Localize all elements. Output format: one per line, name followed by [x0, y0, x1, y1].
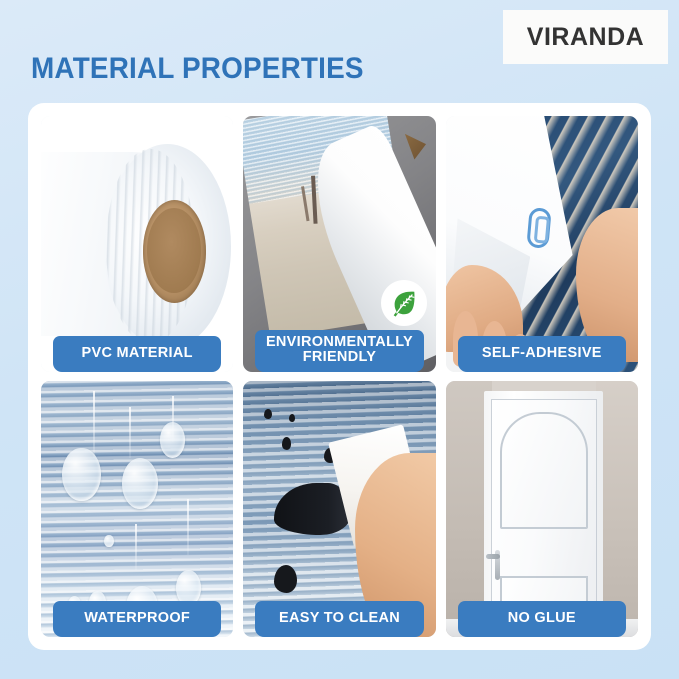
- product-infographic: VIRANDA MATERIAL PROPERTIES PVC MATERIAL: [0, 0, 679, 679]
- brand-logo-text: VIRANDA: [527, 23, 644, 52]
- feature-tile-self-adhesive[interactable]: SELF-ADHESIVE: [446, 116, 638, 372]
- feature-label-no-glue: NO GLUE: [458, 601, 626, 637]
- door-handle-icon: [495, 550, 500, 580]
- waterproof-image: [41, 381, 233, 637]
- feature-grid: PVC MATERIAL: [41, 116, 638, 637]
- feature-label-text: PVC MATERIAL: [57, 346, 217, 362]
- self-adhesive-image: [446, 116, 638, 372]
- page-title: MATERIAL PROPERTIES: [31, 52, 364, 86]
- no-glue-door-image: [446, 381, 638, 637]
- feature-tile-no-glue[interactable]: NO GLUE: [446, 381, 638, 637]
- feature-tile-easy-to-clean[interactable]: EASY TO CLEAN: [243, 381, 435, 637]
- pvc-roll-image: [41, 116, 233, 372]
- feature-label-self-adhesive: SELF-ADHESIVE: [458, 336, 626, 372]
- eco-badge: [381, 280, 427, 326]
- feature-label-environmentally-friendly: ENVIRONMENTALLY FRIENDLY: [255, 330, 423, 372]
- feature-label-text: SELF-ADHESIVE: [462, 346, 622, 362]
- feature-tile-environmentally-friendly[interactable]: ENVIRONMENTALLY FRIENDLY: [243, 116, 435, 372]
- feature-card: PVC MATERIAL: [28, 103, 651, 650]
- feature-tile-waterproof[interactable]: WATERPROOF: [41, 381, 233, 637]
- feature-label-text: EASY TO CLEAN: [259, 611, 419, 627]
- leaf-icon: [389, 288, 419, 318]
- feature-tile-pvc-material[interactable]: PVC MATERIAL: [41, 116, 233, 372]
- feature-label-text: NO GLUE: [462, 611, 622, 627]
- feature-label-pvc-material: PVC MATERIAL: [53, 336, 221, 372]
- feature-label-text-line2: FRIENDLY: [259, 350, 419, 366]
- feature-label-easy-to-clean: EASY TO CLEAN: [255, 601, 423, 637]
- feature-label-text-line1: ENVIRONMENTALLY: [259, 335, 419, 351]
- brand-logo: VIRANDA: [503, 10, 668, 64]
- feature-label-waterproof: WATERPROOF: [53, 601, 221, 637]
- easy-to-clean-image: [243, 381, 435, 637]
- feature-label-text: WATERPROOF: [57, 611, 217, 627]
